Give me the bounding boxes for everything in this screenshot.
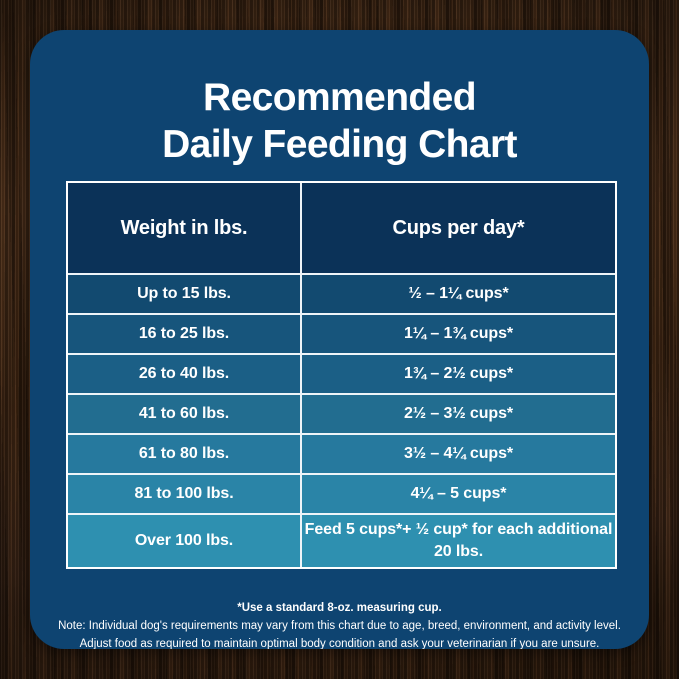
cell-cups: Feed 5 cups*+ ½ cup* for each additional… [302,515,615,567]
cell-cups: 4¼ – 5 cups* [302,475,615,515]
table-row: 61 to 80 lbs. 3½ – 4¼ cups* [68,435,615,475]
table-row: Over 100 lbs. Feed 5 cups*+ ½ cup* for e… [68,515,615,567]
cell-cups: 1¾ – 2½ cups* [302,355,615,395]
footnote-note-line-2: Adjust food as required to maintain opti… [46,636,633,649]
cell-cups: 3½ – 4¼ cups* [302,435,615,475]
cell-weight: 26 to 40 lbs. [68,355,302,395]
table-row: 26 to 40 lbs. 1¾ – 2½ cups* [68,355,615,395]
column-header-cups: Cups per day* [302,183,615,275]
footnotes: *Use a standard 8-oz. measuring cup. Not… [30,600,649,649]
cell-weight: 16 to 25 lbs. [68,315,302,355]
table-row: 81 to 100 lbs. 4¼ – 5 cups* [68,475,615,515]
table-header-row: Weight in lbs. Cups per day* [68,183,615,275]
cell-weight: 81 to 100 lbs. [68,475,302,515]
feeding-table: Weight in lbs. Cups per day* Up to 15 lb… [66,181,617,569]
table-row: 41 to 60 lbs. 2½ – 3½ cups* [68,395,615,435]
cell-weight: Up to 15 lbs. [68,275,302,315]
wood-background: Recommended Daily Feeding Chart Weight i… [0,0,679,679]
feeding-chart-card: Recommended Daily Feeding Chart Weight i… [30,30,649,649]
cell-cups: ½ – 1¼ cups* [302,275,615,315]
page-title-line-1: Recommended [54,76,625,120]
cell-cups: 2½ – 3½ cups* [302,395,615,435]
table-row: Up to 15 lbs. ½ – 1¼ cups* [68,275,615,315]
column-header-weight: Weight in lbs. [68,183,302,275]
footnote-standard-cup: *Use a standard 8-oz. measuring cup. [46,600,633,618]
cell-cups: 1¼ – 1¾ cups* [302,315,615,355]
page-title-line-2: Daily Feeding Chart [54,123,625,167]
cell-weight: 41 to 60 lbs. [68,395,302,435]
table-row: 16 to 25 lbs. 1¼ – 1¾ cups* [68,315,615,355]
page-title: Recommended Daily Feeding Chart [30,76,649,166]
footnote-note-line-1: Note: Individual dog's requirements may … [46,618,633,636]
cell-weight: 61 to 80 lbs. [68,435,302,475]
cell-weight: Over 100 lbs. [68,515,302,567]
